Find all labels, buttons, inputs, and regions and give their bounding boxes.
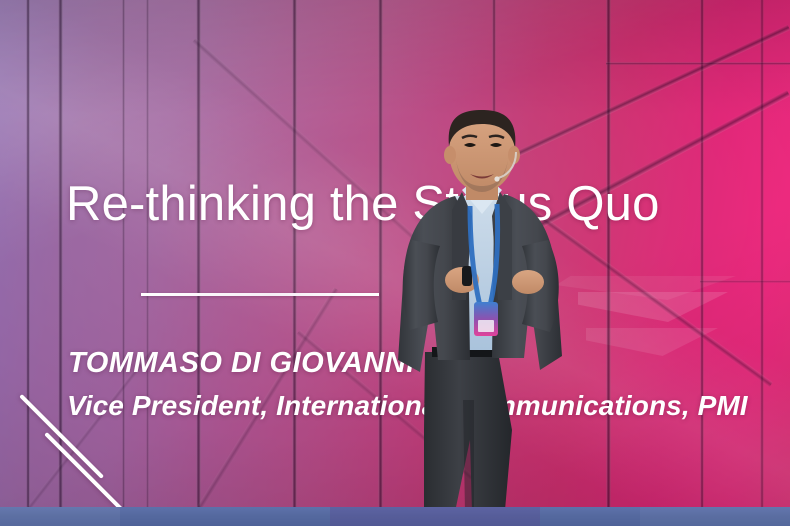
conference-stage-screenshot: Re-thinking the Status Quo TOMMASO DI GI… (0, 0, 790, 526)
speaker-ear-left (444, 146, 456, 164)
speaker-photo (0, 0, 790, 526)
floor-band-center (330, 507, 540, 526)
headset-mic-tip (494, 176, 499, 181)
speaker-clicker (462, 266, 472, 286)
speaker-leg-shadow (463, 400, 474, 512)
stage-floor (0, 507, 790, 526)
speaker-hand-right (512, 270, 544, 294)
floor-band-left (0, 507, 120, 526)
speaker-badge-label (478, 320, 494, 332)
floor-band-right (640, 507, 790, 526)
